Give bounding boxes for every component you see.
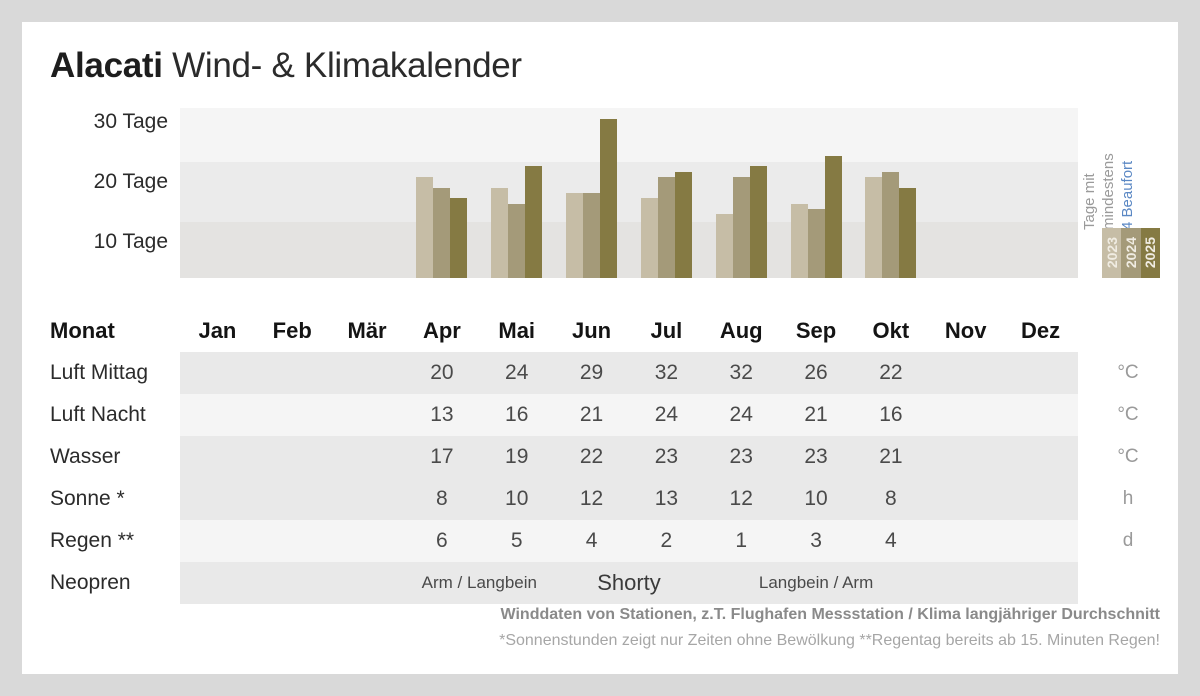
table-row: Regen **6542134d — [22, 520, 1178, 562]
chart-y-axis: 30 Tage 20 Tage 10 Tage — [22, 88, 180, 278]
bar-aug-2024 — [733, 177, 750, 278]
cell-nov — [928, 403, 1003, 427]
legend-swatch-2023: 2023 — [1102, 228, 1121, 278]
cell-dez — [1003, 445, 1078, 469]
cell-jun: 29 — [554, 361, 629, 385]
chart-bar-groups — [180, 108, 1078, 278]
cell-aug: 12 — [704, 487, 779, 511]
bar-group-feb — [255, 108, 330, 278]
cell-okt: 21 — [853, 445, 928, 469]
cell-okt: 4 — [853, 529, 928, 553]
cell-feb — [255, 403, 330, 427]
legend-swatch-2024: 2024 — [1121, 228, 1140, 278]
chart-legend: Tage mit mindestens 4 Beaufort 2023 2024… — [1078, 108, 1166, 278]
bar-aug-2025 — [750, 166, 767, 278]
page-title-light: Wind- & Klimakalender — [172, 46, 522, 85]
cell-sep: 21 — [779, 403, 854, 427]
cell-dez — [1003, 487, 1078, 511]
month-header-sep: Sep — [779, 318, 854, 344]
y-tick-10: 10 Tage — [94, 230, 168, 254]
table-header-row: MonatJanFebMärAprMaiJunJulAugSepOktNovDe… — [22, 310, 1178, 352]
row-cells: 17192223232321 — [180, 445, 1078, 469]
row-label: Neopren — [22, 571, 180, 595]
row-cells: 6542134 — [180, 529, 1078, 553]
cell-apr: 17 — [404, 445, 479, 469]
bar-jul-2023 — [641, 198, 658, 278]
y-tick-20: 20 Tage — [94, 170, 168, 194]
neopren-segment: Shorty — [554, 562, 704, 604]
row-cells: 810121312108 — [180, 487, 1078, 511]
cell-mär — [330, 403, 405, 427]
cell-apr: 20 — [404, 361, 479, 385]
month-header-mai: Mai — [479, 318, 554, 344]
cell-jan — [180, 487, 255, 511]
row-unit: °C — [1078, 362, 1178, 384]
cell-jul: 13 — [629, 487, 704, 511]
cell-dez — [1003, 403, 1078, 427]
cell-feb — [255, 487, 330, 511]
footnotes: Winddaten von Stationen, z.T. Flughafen … — [22, 602, 1178, 654]
cell-jul: 23 — [629, 445, 704, 469]
bar-aug-2023 — [716, 214, 733, 278]
chart-plot-area — [180, 108, 1078, 278]
row-label: Luft Mittag — [22, 361, 180, 385]
cell-jun: 4 — [554, 529, 629, 553]
cell-aug: 23 — [704, 445, 779, 469]
row-cells: 20242932322622 — [180, 361, 1078, 385]
row-unit: d — [1078, 530, 1178, 552]
neopren-segment: Arm / Langbein — [405, 562, 555, 604]
cell-dez — [1003, 361, 1078, 385]
legend-line-2: mindestens — [1101, 108, 1116, 230]
bar-group-apr — [404, 108, 479, 278]
cell-nov — [928, 529, 1003, 553]
month-header-jun: Jun — [554, 318, 629, 344]
bar-group-aug — [704, 108, 779, 278]
bar-group-nov — [928, 108, 1003, 278]
cell-jun: 21 — [554, 403, 629, 427]
bar-group-dez — [1003, 108, 1078, 278]
cell-jul: 2 — [629, 529, 704, 553]
cell-mai: 24 — [479, 361, 554, 385]
cell-sep: 23 — [779, 445, 854, 469]
bar-jun-2024 — [583, 193, 600, 278]
cell-apr: 13 — [404, 403, 479, 427]
cell-jun: 22 — [554, 445, 629, 469]
bar-okt-2024 — [882, 172, 899, 278]
cell-jul: 32 — [629, 361, 704, 385]
month-header-mär: Mär — [330, 318, 405, 344]
bar-group-mär — [330, 108, 405, 278]
bar-group-jul — [629, 108, 704, 278]
month-header-nov: Nov — [928, 318, 1003, 344]
legend-year-swatches: 2023 2024 2025 — [1102, 228, 1160, 278]
bar-mai-2025 — [525, 166, 542, 278]
bar-apr-2025 — [450, 198, 467, 278]
cell-aug: 32 — [704, 361, 779, 385]
bar-group-jan — [180, 108, 255, 278]
cell-aug: 24 — [704, 403, 779, 427]
table-row: Luft Nacht13162124242116°C — [22, 394, 1178, 436]
cell-feb — [255, 361, 330, 385]
footnote-line-2: *Sonnenstunden zeigt nur Zeiten ohne Bew… — [22, 628, 1160, 654]
cell-nov — [928, 361, 1003, 385]
row-label: Wasser — [22, 445, 180, 469]
table-row-neopren: NeoprenArm / LangbeinShortyLangbein / Ar… — [22, 562, 1178, 604]
cell-okt: 22 — [853, 361, 928, 385]
cell-jul: 24 — [629, 403, 704, 427]
bar-apr-2024 — [433, 188, 450, 278]
cell-apr: 8 — [404, 487, 479, 511]
bar-jul-2025 — [675, 172, 692, 278]
month-header-jan: Jan — [180, 318, 255, 344]
legend-line-1: Tage mit — [1082, 108, 1097, 230]
table-row: Wasser17192223232321°C — [22, 436, 1178, 478]
cell-okt: 8 — [853, 487, 928, 511]
legend-swatch-2023-label: 2023 — [1105, 237, 1119, 268]
cell-mai: 19 — [479, 445, 554, 469]
table-row: Luft Mittag20242932322622°C — [22, 352, 1178, 394]
cell-sep: 3 — [779, 529, 854, 553]
bar-sep-2025 — [825, 156, 842, 278]
y-tick-30: 30 Tage — [94, 110, 168, 134]
row-cells: 13162124242116 — [180, 403, 1078, 427]
climate-table: MonatJanFebMärAprMaiJunJulAugSepOktNovDe… — [22, 310, 1178, 604]
row-unit: °C — [1078, 446, 1178, 468]
cell-mär — [330, 529, 405, 553]
page-title: Alacati Wind- & Klimakalender — [50, 46, 522, 86]
legend-line-3: 4 Beaufort — [1120, 108, 1135, 230]
bar-okt-2023 — [865, 177, 882, 278]
bar-mai-2024 — [508, 204, 525, 278]
cell-jan — [180, 361, 255, 385]
bar-apr-2023 — [416, 177, 433, 278]
cell-mär — [330, 487, 405, 511]
page-title-strong: Alacati — [50, 46, 163, 85]
row-label: Sonne * — [22, 487, 180, 511]
cell-sep: 26 — [779, 361, 854, 385]
legend-swatch-2025-label: 2025 — [1143, 237, 1157, 268]
bar-group-okt — [853, 108, 928, 278]
bar-group-sep — [779, 108, 854, 278]
cell-mai: 5 — [479, 529, 554, 553]
bar-group-jun — [554, 108, 629, 278]
month-header-jul: Jul — [629, 318, 704, 344]
cell-nov — [928, 445, 1003, 469]
table-row: Sonne *810121312108h — [22, 478, 1178, 520]
row-label: Luft Nacht — [22, 403, 180, 427]
cell-aug: 1 — [704, 529, 779, 553]
row-unit: °C — [1078, 404, 1178, 426]
cell-jun: 12 — [554, 487, 629, 511]
footnote-line-1: Winddaten von Stationen, z.T. Flughafen … — [22, 602, 1160, 628]
neopren-segment: Langbein / Arm — [704, 562, 929, 604]
legend-caption: Tage mit mindestens 4 Beaufort — [1078, 108, 1166, 230]
cell-sep: 10 — [779, 487, 854, 511]
legend-swatch-2024-label: 2024 — [1124, 237, 1138, 268]
table-header-label: Monat — [22, 318, 180, 344]
neopren-segments: Arm / LangbeinShortyLangbein / Arm — [180, 562, 1078, 604]
bar-jun-2023 — [566, 193, 583, 278]
bar-sep-2023 — [791, 204, 808, 278]
cell-apr: 6 — [404, 529, 479, 553]
bar-jul-2024 — [658, 177, 675, 278]
cell-mär — [330, 445, 405, 469]
bar-sep-2024 — [808, 209, 825, 278]
row-unit: h — [1078, 488, 1178, 510]
legend-swatch-2025: 2025 — [1141, 228, 1160, 278]
cell-jan — [180, 445, 255, 469]
cell-okt: 16 — [853, 403, 928, 427]
month-header-okt: Okt — [853, 318, 928, 344]
month-header-cells: JanFebMärAprMaiJunJulAugSepOktNovDez — [180, 318, 1078, 344]
bar-group-mai — [479, 108, 554, 278]
cell-nov — [928, 487, 1003, 511]
wind-chart: 30 Tage 20 Tage 10 Tage Tage mit mindest… — [22, 88, 1178, 308]
month-header-apr: Apr — [404, 318, 479, 344]
cell-feb — [255, 445, 330, 469]
month-header-dez: Dez — [1003, 318, 1078, 344]
cell-feb — [255, 529, 330, 553]
bar-okt-2025 — [899, 188, 916, 278]
month-header-feb: Feb — [255, 318, 330, 344]
calendar-card: Alacati Wind- & Klimakalender 30 Tage 20… — [22, 22, 1178, 674]
bar-mai-2023 — [491, 188, 508, 278]
row-label: Regen ** — [22, 529, 180, 553]
cell-mai: 10 — [479, 487, 554, 511]
cell-dez — [1003, 529, 1078, 553]
month-header-aug: Aug — [704, 318, 779, 344]
bar-jun-2025 — [600, 119, 617, 278]
cell-mär — [330, 361, 405, 385]
cell-jan — [180, 403, 255, 427]
cell-mai: 16 — [479, 403, 554, 427]
cell-jan — [180, 529, 255, 553]
